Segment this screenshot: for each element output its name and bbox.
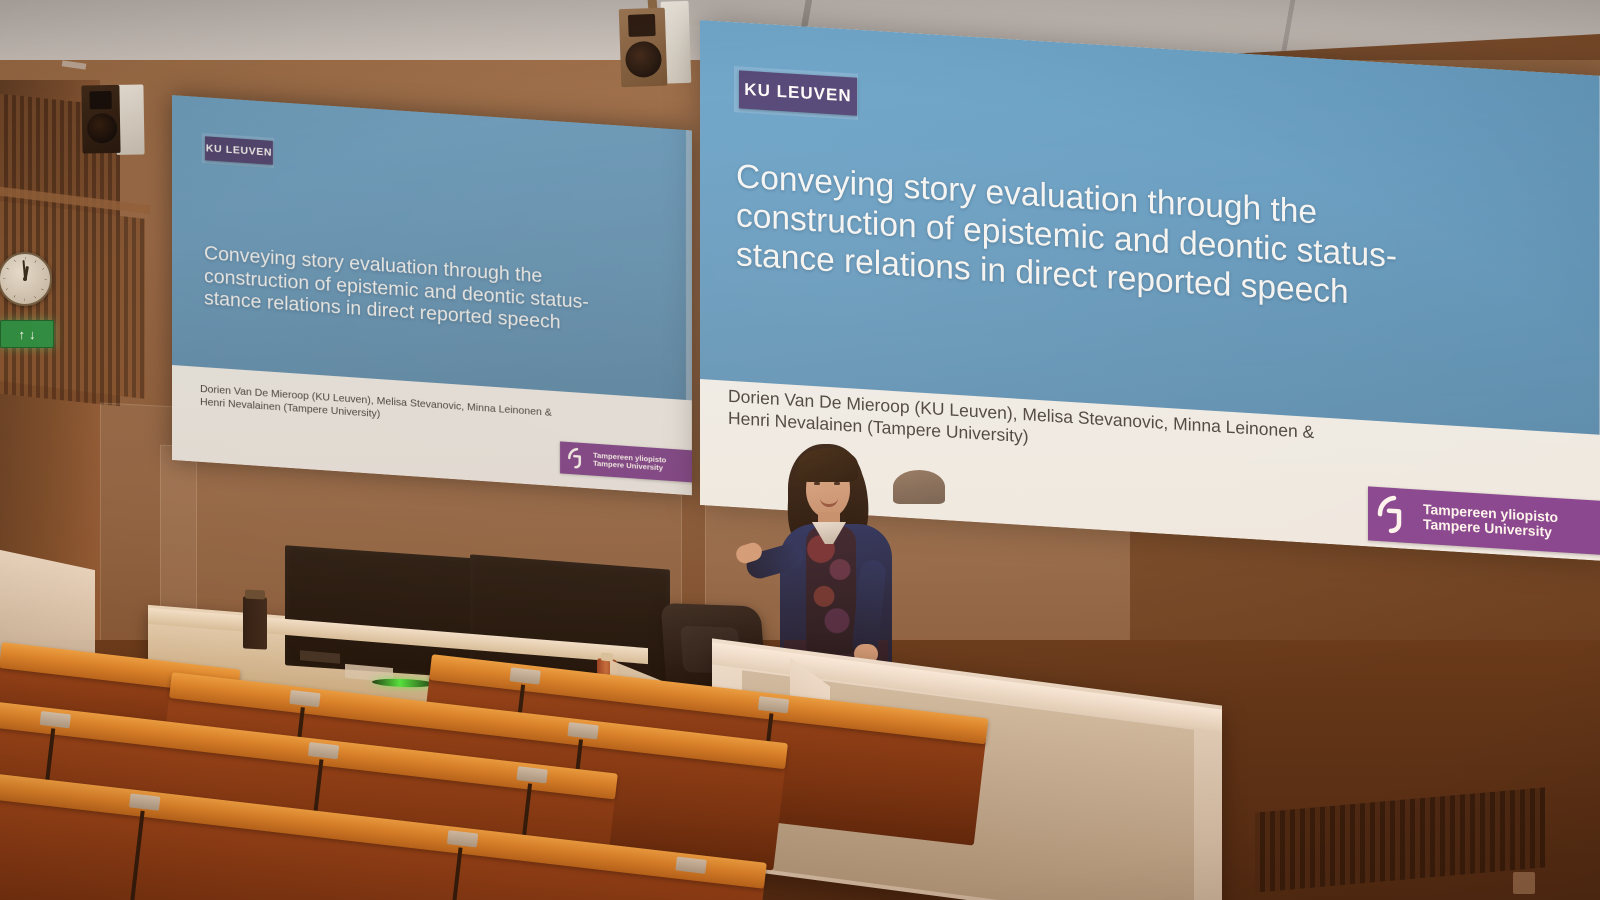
- presenter-hair-front: [798, 448, 858, 482]
- ku-leuven-badge: KU LEUVEN: [739, 70, 857, 115]
- lecture-hall-photo: ↑ ↓ KU LEUVEN Conveying story evaluation…: [0, 0, 1600, 900]
- ceiling-speaker-icon: [618, 0, 691, 91]
- tampere-university-logo-left: Tampereen yliopisto Tampere University: [560, 441, 692, 482]
- slide-right-edge: [686, 130, 692, 401]
- ku-leuven-badge: KU LEUVEN: [205, 136, 273, 165]
- power-outlet: [1513, 872, 1535, 894]
- presenter-eye-right: [834, 482, 840, 485]
- ceiling-speaker-tweeter: [628, 14, 656, 37]
- presentation-slide-left: KU LEUVEN Conveying story evaluation thr…: [172, 95, 692, 495]
- down-arrow-icon: ↓: [29, 328, 36, 341]
- tampere-logo-mark-icon: [566, 447, 588, 470]
- wall-mounted-speaker-icon: [81, 84, 144, 155]
- tampere-university-logo-right: Tampereen yliopisto Tampere University: [1368, 486, 1600, 556]
- emergency-exit-sign: ↑ ↓: [0, 320, 54, 348]
- speaker-tweeter: [89, 91, 111, 109]
- tampere-logo-text: Tampereen yliopisto Tampere University: [1423, 502, 1558, 541]
- presenter-eye-left: [814, 482, 820, 485]
- presenter-patterned-dress: [806, 526, 856, 654]
- running-man-icon: ↑: [19, 328, 26, 341]
- left-projection-screen[interactable]: KU LEUVEN Conveying story evaluation thr…: [172, 95, 692, 495]
- pen-cup: [243, 596, 267, 649]
- tampere-logo-mark-icon: [1374, 494, 1414, 536]
- tampere-logo-text: Tampereen yliopisto Tampere University: [593, 451, 666, 472]
- clock-center-pin: [23, 277, 27, 281]
- wall-clock: [0, 252, 52, 306]
